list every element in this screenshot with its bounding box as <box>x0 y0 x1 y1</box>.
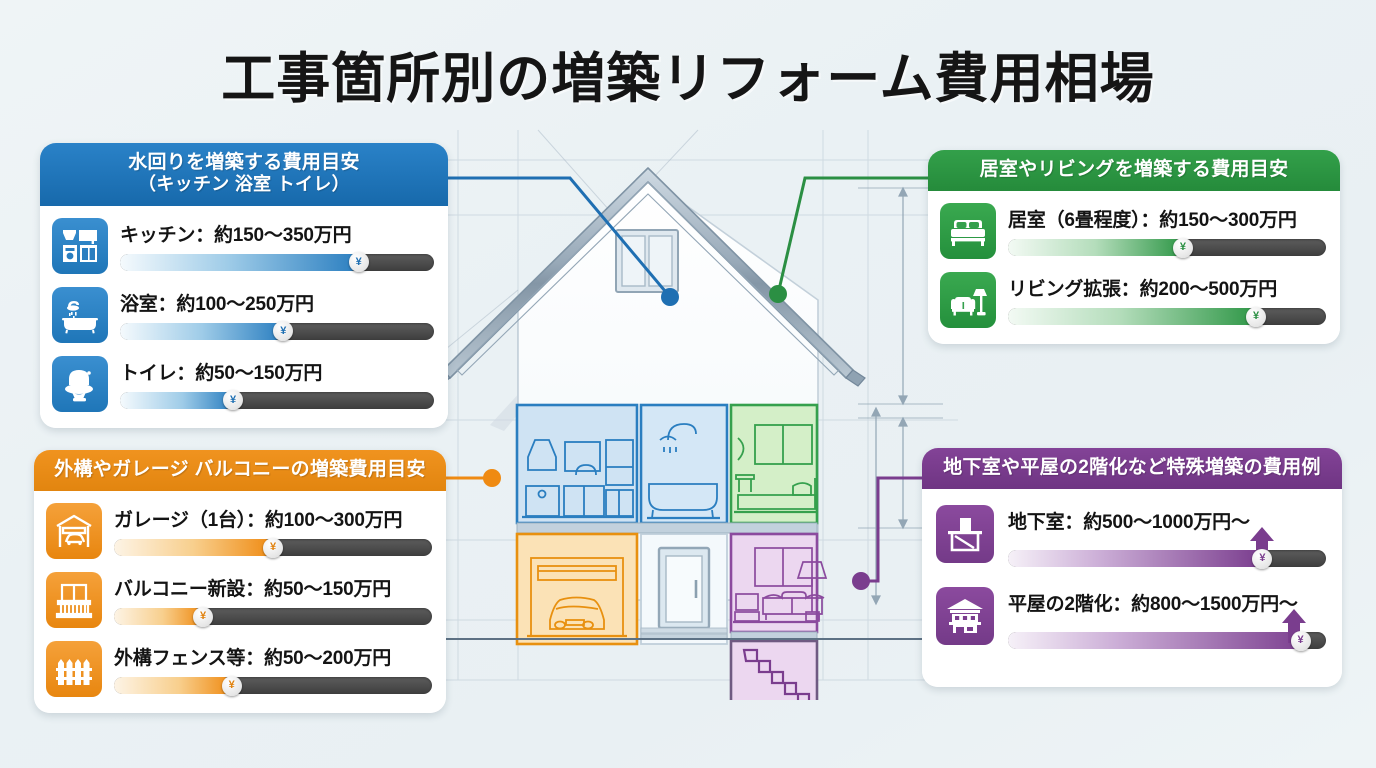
cost-row-bathroom: 浴室：約100〜250万円 ¥ <box>52 287 434 343</box>
cost-bar-toilet[interactable]: ¥ <box>120 392 434 409</box>
cost-label-balcony: バルコニー新設：約50〜150万円 <box>114 574 432 601</box>
cost-label-fence: 外構フェンス等：約50〜200万円 <box>114 643 432 670</box>
sofa-lamp-icon <box>940 272 996 328</box>
two-story-house-icon <box>936 587 994 645</box>
kitchen-icon <box>52 218 108 274</box>
cost-label-bedroom: 居室（6畳程度）：約150〜300万円 <box>1008 205 1326 232</box>
bathtub-icon <box>52 287 108 343</box>
cost-bar-bathroom[interactable]: ¥ <box>120 323 434 340</box>
house-cutaway-illustration <box>398 120 978 700</box>
cost-bar-kitchen[interactable]: ¥ <box>120 254 434 271</box>
bed-icon <box>940 203 996 259</box>
cost-label-bathroom: 浴室：約100〜250万円 <box>120 289 434 316</box>
cost-row-kitchen: キッチン：約150〜350万円 ¥ <box>52 218 434 274</box>
panel-water-subtitle: （キッチン 浴室 トイレ） <box>50 174 438 195</box>
basement-icon <box>936 505 994 563</box>
cost-row-living-expand: リビング拡張：約200〜500万円 ¥ <box>940 272 1326 328</box>
cost-bar-garage[interactable]: ¥ <box>114 539 432 556</box>
panel-special-body: 地下室：約500〜1000万円〜 ¥ <box>922 489 1342 687</box>
living-room <box>731 534 826 632</box>
panel-water-body: キッチン：約150〜350万円 ¥ <box>40 206 448 428</box>
cost-bar-balcony[interactable]: ¥ <box>114 608 432 625</box>
cost-row-balcony: バルコニー新設：約50〜150万円 ¥ <box>46 572 432 628</box>
yen-badge-bathroom: ¥ <box>273 321 293 341</box>
panel-special-cost: 地下室や平屋の2階化など特殊増築の費用例 地下室：約500〜1000万円〜 <box>922 448 1342 687</box>
panel-water-title: 水回りを増築する費用目安 <box>128 152 360 173</box>
yen-badge-living-expand: ¥ <box>1246 307 1266 327</box>
yen-badge-basement: ¥ <box>1252 549 1272 569</box>
cost-label-kitchen: キッチン：約150〜350万円 <box>120 220 434 247</box>
page-title: 工事箇所別の増築リフォーム費用相場 <box>0 34 1376 113</box>
garage-room <box>517 534 637 644</box>
cost-bar-bedroom[interactable]: ¥ <box>1008 239 1326 256</box>
cost-label-garage: ガレージ（1台）：約100〜300万円 <box>114 505 432 532</box>
bedroom-room <box>731 405 818 523</box>
fence-icon <box>46 641 102 697</box>
cost-label-toilet: トイレ：約50〜150万円 <box>120 358 434 385</box>
yen-badge-balcony: ¥ <box>193 607 213 627</box>
kitchen-room <box>517 405 637 523</box>
toilet-icon <box>52 356 108 412</box>
entrance-door <box>641 534 727 644</box>
panel-living-header: 居室やリビングを増築する費用目安 <box>928 150 1340 191</box>
panel-special-title: 地下室や平屋の2階化など特殊増築の費用例 <box>943 457 1321 478</box>
cost-row-bedroom: 居室（6畳程度）：約150〜300万円 ¥ <box>940 203 1326 259</box>
panel-water-cost: 水回りを増築する費用目安 （キッチン 浴室 トイレ） <box>40 143 448 428</box>
panel-exterior-body: ガレージ（1台）：約100〜300万円 ¥ <box>34 491 446 713</box>
panel-exterior-header: 外構やガレージ バルコニーの増築費用目安 <box>34 450 446 491</box>
panel-exterior-title: 外構やガレージ バルコニーの増築費用目安 <box>54 459 426 480</box>
cost-bar-living-expand[interactable]: ¥ <box>1008 308 1326 325</box>
garage-icon <box>46 503 102 559</box>
cost-label-living-expand: リビング拡張：約200〜500万円 <box>1008 274 1326 301</box>
panel-exterior-cost: 外構やガレージ バルコニーの増築費用目安 ガレージ（1台）：約1 <box>34 450 446 713</box>
cost-label-basement: 地下室：約500〜1000万円〜 <box>1008 507 1326 534</box>
yen-badge-garage: ¥ <box>263 538 283 558</box>
panel-water-header: 水回りを増築する費用目安 （キッチン 浴室 トイレ） <box>40 143 448 206</box>
cost-row-two-story: 平屋の2階化：約800〜1500万円〜 ¥ <box>936 587 1326 649</box>
cost-bar-basement[interactable]: ¥ <box>1008 550 1326 567</box>
yen-badge-bedroom: ¥ <box>1173 238 1193 258</box>
panel-living-title: 居室やリビングを増築する費用目安 <box>980 159 1289 180</box>
basement-stairs-room <box>731 641 822 700</box>
cost-row-toilet: トイレ：約50〜150万円 ¥ <box>52 356 434 412</box>
attic-window <box>616 230 678 292</box>
cost-bar-fence[interactable]: ¥ <box>114 677 432 694</box>
yen-badge-toilet: ¥ <box>223 390 243 410</box>
balcony-icon <box>46 572 102 628</box>
panel-living-cost: 居室やリビングを増築する費用目安 居室（6畳程度）：約150〜3 <box>928 150 1340 344</box>
cost-row-fence: 外構フェンス等：約50〜200万円 ¥ <box>46 641 432 697</box>
yen-badge-kitchen: ¥ <box>349 252 369 272</box>
cost-bar-two-story[interactable]: ¥ <box>1008 632 1326 649</box>
cost-row-basement: 地下室：約500〜1000万円〜 ¥ <box>936 505 1326 567</box>
yen-badge-fence: ¥ <box>222 676 242 696</box>
cost-row-garage: ガレージ（1台）：約100〜300万円 ¥ <box>46 503 432 559</box>
bathroom-room <box>641 405 727 523</box>
yen-badge-two-story: ¥ <box>1291 631 1311 651</box>
panel-special-header: 地下室や平屋の2階化など特殊増築の費用例 <box>922 448 1342 489</box>
panel-living-body: 居室（6畳程度）：約150〜300万円 ¥ <box>928 191 1340 344</box>
cost-label-two-story: 平屋の2階化：約800〜1500万円〜 <box>1008 589 1326 616</box>
